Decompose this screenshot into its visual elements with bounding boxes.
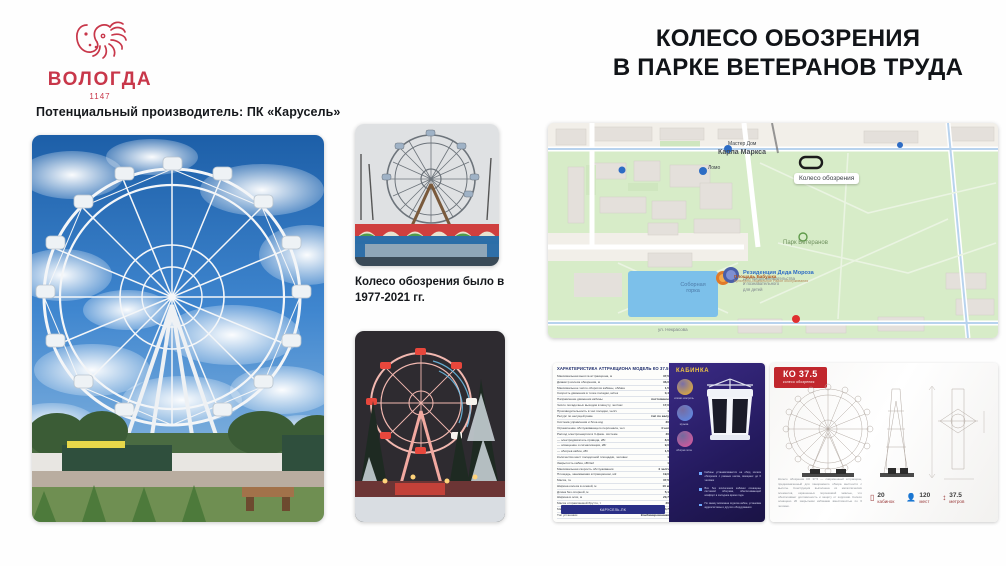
bullet-dot-icon: [699, 504, 702, 507]
spec-row-key: Площадь, занимаемая аттракционом, м2: [557, 472, 616, 477]
spec-row-key: Направление движения кабины: [557, 397, 603, 402]
logo-wordmark: ВОЛОГДА: [40, 70, 160, 89]
music-icon-label: музыка: [670, 423, 698, 426]
person-stat: 👤120мест: [906, 492, 930, 504]
spec-row-value: 19,0: [660, 472, 669, 477]
person-icon: 👤: [906, 494, 916, 502]
spec-row-value: 5,1: [662, 490, 669, 495]
spec-row-key: Система управления и блок-код: [557, 420, 603, 425]
title-line-1: КОЛЕСО ОБОЗРЕНИЯ: [656, 25, 920, 52]
stat-number: 37.5: [949, 492, 964, 499]
historic-caption: Колесо обозрения было в 1977-2021 гг.: [355, 275, 535, 306]
climate-icon: климат-контроль: [673, 379, 701, 400]
spec-row-value: 20,7: [660, 495, 669, 500]
spec-row-value: постоянное: [648, 397, 669, 402]
photo-old-wheel: [355, 124, 499, 266]
cabin-bullet-text: По заказу возможна отделка кабин, устано…: [705, 502, 762, 510]
spec-footer: КАРУСЕЛЬ-ПК: [561, 505, 665, 514]
spec-row-key: Расход электроэнергии в 3-фазн. системе: [557, 432, 618, 437]
spec-row-value: 1,5: [662, 449, 669, 454]
attraction-specification-sheet[interactable]: ХАРАКТЕРИСТИКА АТТРАКЦИОНА МОДЕЛЬ КО 37.…: [553, 363, 765, 522]
photo-wheel-winter-night: [355, 331, 505, 522]
spec-row-key: Производительность в час посадки, чел/ч: [557, 409, 617, 414]
spec-row-value: 37,5: [660, 374, 669, 379]
spec-row-value: 8,0: [662, 438, 669, 443]
spec-row-key: Максимальная высота аттракциона, м: [557, 374, 612, 379]
cabin-stat: ▯20кабинок: [870, 492, 894, 504]
spec-table: Максимальная высота аттракциона, м37,5Ди…: [557, 374, 669, 519]
bullet-dot-icon: [699, 472, 702, 475]
stat-number: 20: [877, 492, 894, 499]
cabin-bullet: Кабины устанавливаются на обод колеса об…: [699, 471, 761, 483]
cabin-icon: ▯: [870, 494, 874, 502]
spec-row-key: Число посадочных выходов в минуту, чел/ч…: [557, 403, 623, 408]
spec-row-key: — обогрев кабин, кВт: [557, 449, 588, 454]
ko-stats: ▯20кабинок👤120мест↕37.5метров: [870, 492, 964, 504]
vologda-logo: ВОЛОГДА 1147: [40, 14, 160, 101]
spec-row-value: 37,5: [660, 478, 669, 483]
spec-row-value: тип по валу: [648, 414, 669, 419]
height-stat: ↕37.5метров: [942, 492, 964, 504]
title-line-2: В ПАРКЕ ВЕТЕРАНОВ ТРУДА: [598, 53, 978, 82]
music-icon-circle: [677, 405, 693, 421]
height-icon: ↕: [942, 494, 946, 502]
spec-row-value: 36,0: [660, 380, 669, 385]
cabin-bullet: Все без исключения кабинки оснащены сист…: [699, 487, 761, 499]
spec-row-key: Закрытость кабин, кВт/м2: [557, 461, 594, 466]
spec-row-value: 0,4: [662, 391, 669, 396]
heat-icon-label: обогрев пола: [670, 449, 698, 452]
spec-row-key: Максимальное число оборотов кабины, об/м…: [557, 386, 625, 391]
spec-row-value: 10 м: [659, 484, 669, 489]
bullet-dot-icon: [699, 488, 702, 491]
spec-row-value: 1,5: [662, 386, 669, 391]
spec-row-key: Диаметр колеса обозрения, м: [557, 380, 600, 385]
spec-row-value: 4 чел/ч: [655, 467, 669, 472]
cabin-bullet-text: Все без исключения кабинки оснащены сист…: [705, 487, 762, 499]
photo-ferris-wheel-day: [32, 135, 324, 522]
slide-root: ВОЛОГДА 1147 КОЛЕСО ОБОЗРЕНИЯ В ПАРКЕ ВЕ…: [0, 0, 1006, 566]
map-ferris-wheel-location[interactable]: Карла Маркса Колесо обозрения Парк Ветер…: [548, 123, 998, 338]
spec-row-key: Ресурс по несущей раме: [557, 414, 593, 419]
spec-row-key: — электродвигатель привода, кВт: [557, 438, 606, 443]
cabin-panel: КАБИНКА климат-контрольмузыкаобогрев пол…: [669, 363, 765, 522]
climate-icon-circle: [677, 379, 693, 395]
logo-year: 1147: [40, 92, 160, 101]
spec-row-value: 4 чел: [658, 426, 669, 431]
stat-unit: мест: [919, 499, 930, 504]
page-title: КОЛЕСО ОБОЗРЕНИЯ В ПАРКЕ ВЕТЕРАНОВ ТРУДА: [598, 24, 978, 83]
map-callout-ferris-wheel: Колесо обозрения: [794, 173, 859, 184]
heat-icon: обогрев пола: [673, 431, 701, 452]
spec-row-key: Масса, тн: [557, 478, 571, 483]
ko-description: Колесо обозрения КО 37.5 — современный а…: [778, 477, 862, 508]
stat-number: 120: [919, 492, 930, 499]
cabin-bullets: Кабины устанавливаются на обод колеса об…: [699, 471, 761, 514]
map-canvas: [548, 123, 998, 338]
manufacturer-note: Потенциальный производитель: ПК «Карусел…: [36, 105, 341, 119]
spec-row-key: Количество мест посадочной площадки, чел…: [557, 455, 627, 460]
spec-row-key: Ширина колеса в осевой, м: [557, 484, 596, 489]
cabin-illustration: [699, 375, 761, 445]
bird-floral-emblem-icon: [67, 14, 133, 66]
music-icon: музыка: [673, 405, 701, 426]
cabin-title: КАБИНКА: [676, 368, 709, 374]
spec-row-key: Длина без опорной, м: [557, 490, 588, 495]
spec-row-key: Ограничение обслуживающего персонала, че…: [557, 426, 625, 431]
map-poi-square[interactable]: Площадь Бабушка Культурно-социальное Рай…: [734, 274, 808, 283]
heat-icon-circle: [677, 431, 693, 447]
stat-unit: метров: [949, 499, 964, 504]
spec-row-key: Ширина в осях, м: [557, 495, 582, 500]
ko-37-5-datasheet[interactable]: КО 37.5 колесо обозрения: [770, 363, 998, 522]
map-poi-square-sub: Культурно-социальное Район обслуживания: [734, 279, 808, 283]
spec-row-value: 17,0: [660, 403, 669, 408]
spec-row-key: Максимальная скорость обслуживания: [557, 467, 613, 472]
spec-row-key: Скорость движения в точке посадки, м/сек: [557, 391, 618, 396]
cabin-bullet-text: Кабины устанавливаются на обод колеса об…: [705, 471, 762, 483]
climate-icon-label: климат-контроль: [670, 397, 698, 400]
ko-badge-label: КО 37.5: [783, 369, 818, 379]
cabin-bullet: По заказу возможна отделка кабин, устано…: [699, 502, 761, 510]
ko-technical-drawings: [776, 381, 992, 489]
stat-unit: кабинок: [877, 499, 894, 504]
spec-heading: ХАРАКТЕРИСТИКА АТТРАКЦИОНА МОДЕЛЬ КО 37.…: [557, 366, 669, 371]
spec-row-value: 9,0: [662, 443, 669, 448]
spec-row-key: — освещение и сигнализация, кВт: [557, 443, 607, 448]
